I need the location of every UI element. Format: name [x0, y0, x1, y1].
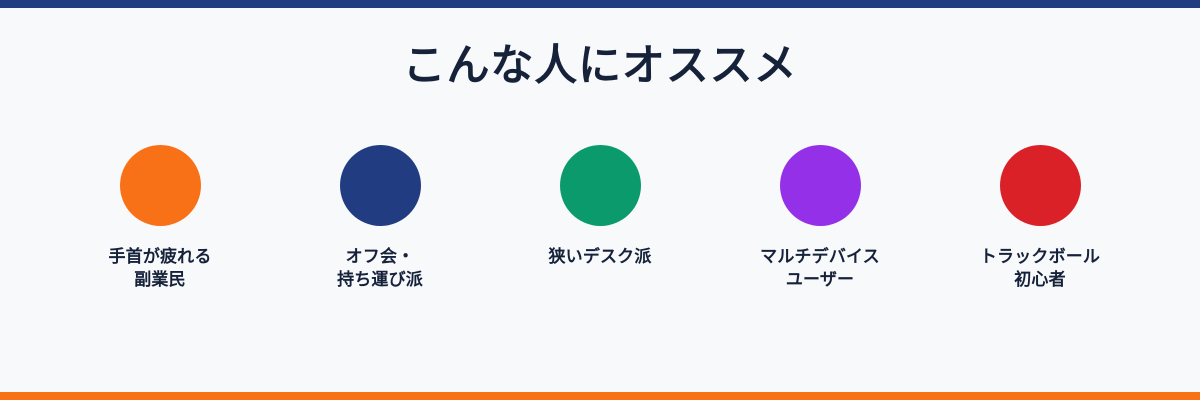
recommendation-item-label: マルチデバイス ユーザー — [760, 246, 880, 293]
infographic-body: こんな人にオススメ 手首が疲れる 副業民 オフ会・ 持ち運び派 狭いデスク派 マ… — [0, 8, 1200, 392]
recommendation-item-label: 手首が疲れる 副業民 — [108, 246, 211, 293]
recommendation-item-label: オフ会・ 持ち運び派 — [337, 246, 423, 293]
red-circle-icon — [1000, 145, 1081, 226]
bottom-accent-rule — [0, 392, 1200, 400]
recommendation-item-4: マルチデバイス ユーザー — [710, 145, 930, 293]
top-accent-rule — [0, 0, 1200, 8]
recommendation-infographic: こんな人にオススメ 手首が疲れる 副業民 オフ会・ 持ち運び派 狭いデスク派 マ… — [0, 0, 1200, 400]
navy-circle-icon — [340, 145, 421, 226]
recommendation-item-1: 手首が疲れる 副業民 — [50, 145, 270, 293]
purple-circle-icon — [780, 145, 861, 226]
recommendation-item-label: トラックボール 初心者 — [980, 246, 1100, 293]
recommendation-items-row: 手首が疲れる 副業民 オフ会・ 持ち運び派 狭いデスク派 マルチデバイス ユーザ… — [0, 145, 1200, 293]
green-circle-icon — [560, 145, 641, 226]
recommendation-item-5: トラックボール 初心者 — [930, 145, 1150, 293]
orange-circle-icon — [120, 145, 201, 226]
recommendation-item-label: 狭いデスク派 — [548, 246, 651, 269]
page-title: こんな人にオススメ — [0, 45, 1200, 88]
recommendation-item-3: 狭いデスク派 — [490, 145, 710, 269]
recommendation-item-2: オフ会・ 持ち運び派 — [270, 145, 490, 293]
